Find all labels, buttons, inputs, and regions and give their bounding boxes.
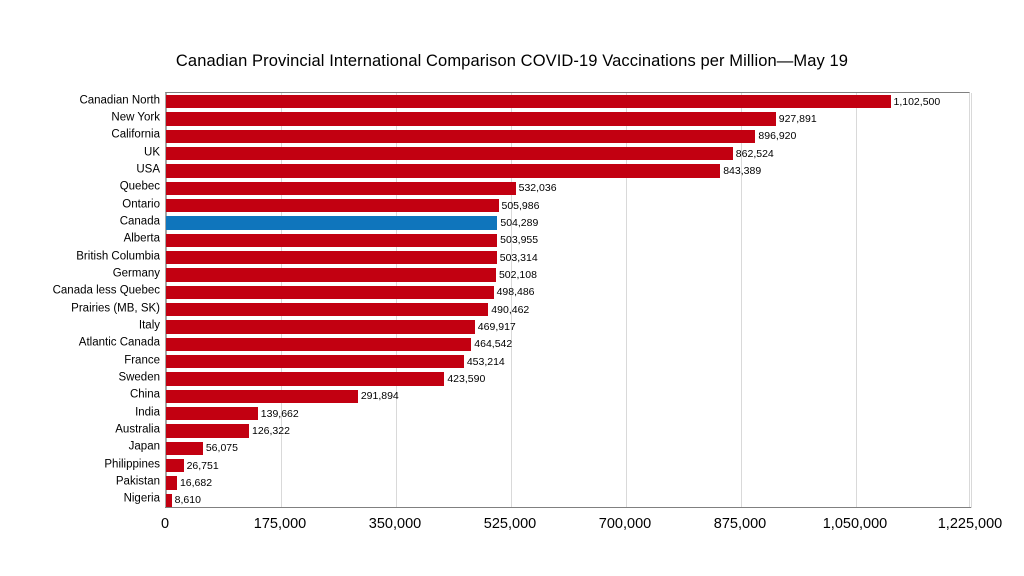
bar-row: 139,662 [166,407,969,420]
bar[interactable] [166,424,249,437]
bar-value-label: 490,462 [488,304,529,315]
category-label: Quebec [0,182,160,194]
bar[interactable] [166,251,497,264]
category-label: China [0,390,160,402]
bar-highlighted[interactable] [166,216,497,229]
bar-value-label: 26,751 [184,460,219,471]
category-label: India [0,407,160,419]
bar-row: 862,524 [166,147,969,160]
bar-value-label: 1,102,500 [891,96,941,107]
bar-value-label: 469,917 [475,322,516,333]
bar-row: 8,610 [166,494,969,507]
bar[interactable] [166,95,891,108]
bar-value-label: 498,486 [494,287,535,298]
x-tick-label: 0 [161,516,169,533]
x-tick-label: 875,000 [714,516,766,533]
bar[interactable] [166,442,203,455]
bar-value-label: 16,682 [177,478,212,489]
category-label: Alberta [0,234,160,246]
category-label: Germany [0,268,160,280]
bar-value-label: 139,662 [258,408,299,419]
category-label: Prairies (MB, SK) [0,303,160,315]
x-tick-label: 1,225,000 [938,516,1003,533]
bar[interactable] [166,355,464,368]
bar-row: 504,289 [166,216,969,229]
x-tick-label: 1,050,000 [823,516,888,533]
bar-value-label: 505,986 [499,200,540,211]
bar-row: 927,891 [166,112,969,125]
bar-chart: Canadian Provincial International Compar… [0,0,1024,576]
bar-row: 498,486 [166,286,969,299]
category-label: Canada [0,216,160,228]
bar-row: 56,075 [166,442,969,455]
bar-value-label: 126,322 [249,426,290,437]
bar-row: 126,322 [166,424,969,437]
x-tick-label: 175,000 [254,516,306,533]
category-label: Philippines [0,459,160,471]
category-label: California [0,130,160,142]
bar[interactable] [166,372,444,385]
bar[interactable] [166,286,494,299]
bar-row: 423,590 [166,372,969,385]
bar[interactable] [166,130,755,143]
bar-value-label: 502,108 [496,270,537,281]
bar-value-label: 843,389 [720,166,761,177]
bar-value-label: 896,920 [755,131,796,142]
x-axis-tick-labels: 0175,000350,000525,000700,000875,0001,05… [0,516,1024,542]
category-label: Sweden [0,372,160,384]
plot-area: 1,102,500927,891896,920862,524843,389532… [165,92,970,508]
bar-row: 843,389 [166,164,969,177]
category-label: USA [0,164,160,176]
category-label: Canada less Quebec [0,286,160,298]
bar-row: 1,102,500 [166,95,969,108]
bar[interactable] [166,320,475,333]
x-tick-label: 350,000 [369,516,421,533]
bar-value-label: 453,214 [464,356,505,367]
bar-row: 896,920 [166,130,969,143]
gridline [971,93,972,508]
category-label: Ontario [0,199,160,211]
bar-value-label: 8,610 [172,495,201,506]
category-axis-labels: Canadian NorthNew YorkCaliforniaUKUSAQue… [0,92,160,508]
category-label: UK [0,147,160,159]
category-label: British Columbia [0,251,160,263]
bar-row: 291,894 [166,390,969,403]
bar-value-label: 862,524 [733,148,774,159]
bar[interactable] [166,268,496,281]
bar-row: 453,214 [166,355,969,368]
category-label: Canadian North [0,95,160,107]
bar[interactable] [166,390,358,403]
category-label: New York [0,112,160,124]
bar-value-label: 503,955 [497,235,538,246]
bar[interactable] [166,407,258,420]
bar-value-label: 504,289 [497,218,538,229]
bar[interactable] [166,338,471,351]
bar-value-label: 423,590 [444,374,485,385]
bar[interactable] [166,147,733,160]
bar-value-label: 56,075 [203,443,238,454]
bar-row: 490,462 [166,303,969,316]
bar-value-label: 532,036 [516,183,557,194]
category-label: France [0,355,160,367]
bar-row: 502,108 [166,268,969,281]
bar[interactable] [166,234,497,247]
x-tick-label: 700,000 [599,516,651,533]
bar-value-label: 291,894 [358,391,399,402]
bar[interactable] [166,459,184,472]
chart-title: Canadian Provincial International Compar… [0,52,1024,71]
bar-row: 505,986 [166,199,969,212]
bar-rows: 1,102,500927,891896,920862,524843,389532… [166,93,969,508]
bar-value-label: 503,314 [497,252,538,263]
bar-row: 532,036 [166,182,969,195]
bar-value-label: 927,891 [776,114,817,125]
bar-row: 16,682 [166,476,969,489]
x-tick-label: 525,000 [484,516,536,533]
bar[interactable] [166,164,720,177]
category-label: Australia [0,424,160,436]
bar-row: 503,955 [166,234,969,247]
bar[interactable] [166,476,177,489]
bar-row: 464,542 [166,338,969,351]
category-label: Atlantic Canada [0,338,160,350]
category-label: Nigeria [0,494,160,506]
category-label: Italy [0,320,160,332]
bar-row: 469,917 [166,320,969,333]
bar-row: 503,314 [166,251,969,264]
category-label: Japan [0,442,160,454]
bar-row: 26,751 [166,459,969,472]
bar[interactable] [166,112,776,125]
bar[interactable] [166,199,499,212]
bar[interactable] [166,303,488,316]
bar[interactable] [166,182,516,195]
bar-value-label: 464,542 [471,339,512,350]
category-label: Pakistan [0,476,160,488]
x-axis-line [165,507,971,508]
